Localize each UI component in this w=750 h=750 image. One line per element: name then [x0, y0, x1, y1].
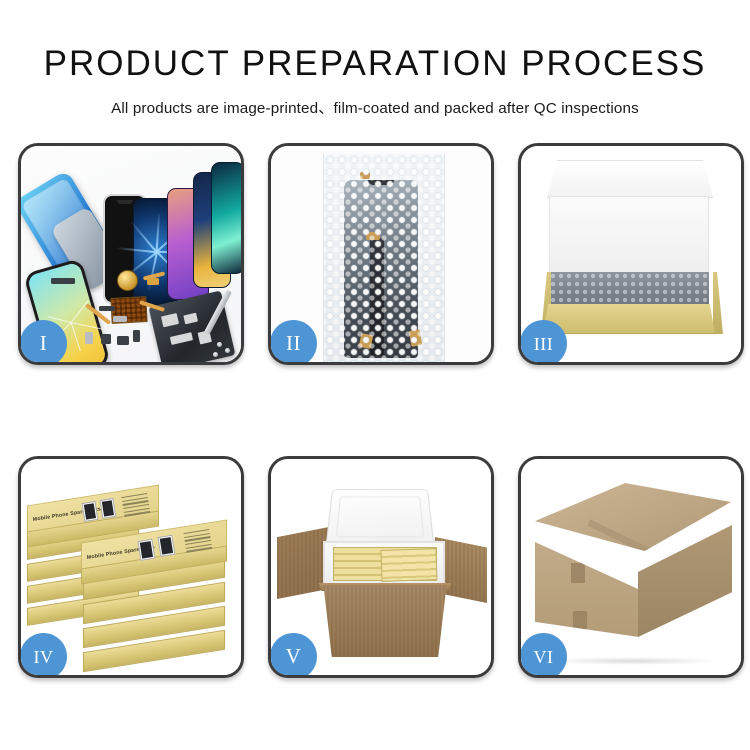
labeled-box: Mobile Phone Spare Parts [81, 531, 227, 567]
carton-shadow [545, 657, 721, 665]
box-label-phone-image [137, 539, 155, 561]
step-badge-5: V [270, 633, 317, 678]
labeled-box: Mobile Phone Spare Parts [27, 495, 159, 529]
small-part-icon [113, 316, 127, 322]
step-badge-1: I [20, 320, 67, 365]
header: PRODUCT PREPARATION PROCESS All products… [0, 0, 750, 118]
step-badge-2: II [270, 320, 317, 365]
small-part-icon [51, 278, 75, 284]
box-label-phone-image [100, 498, 117, 519]
process-step-1: I [18, 143, 244, 365]
box-contents-icon [549, 272, 709, 306]
process-step-5: V [268, 456, 494, 678]
process-step-3: III [518, 143, 744, 365]
box-label-checklist [183, 529, 212, 553]
bubble-bag-icon [323, 154, 445, 362]
step-badge-4: IV [20, 633, 67, 678]
small-part-icon [117, 336, 129, 345]
small-part-icon [133, 330, 140, 342]
page-root: PRODUCT PREPARATION PROCESS All products… [0, 0, 750, 750]
step-badge-3: III [520, 320, 567, 365]
screw-icon [213, 352, 218, 357]
screw-icon [225, 348, 230, 353]
box-label-phone-image [157, 535, 175, 557]
box-label-checklist [121, 493, 150, 517]
tape-tab-icon [573, 611, 587, 629]
box-lid-front-icon [549, 196, 709, 274]
small-part-icon [99, 306, 115, 311]
tape-tab-icon [571, 563, 585, 583]
box-label-phone-image [82, 501, 99, 522]
step-badge-6: VI [520, 633, 567, 678]
box-lid-back-icon [547, 160, 713, 198]
process-grid: I II [18, 143, 732, 678]
small-part-icon [147, 278, 159, 285]
yellow-boxes-icon [380, 548, 437, 582]
small-part-icon [101, 334, 111, 344]
bubble-texture [324, 154, 444, 362]
vibration-motor-icon [117, 270, 138, 291]
carton-front-icon [315, 585, 455, 657]
bubble-texture [549, 272, 709, 306]
process-step-6: VI [518, 456, 744, 678]
screw-icon [217, 342, 222, 347]
process-step-2: II [268, 143, 494, 365]
styrofoam-lid-icon [325, 489, 434, 547]
teal-display-icon [211, 162, 241, 274]
process-step-4: Mobile Phone Spare Parts Mobile Phone Sp… [18, 456, 244, 678]
page-title: PRODUCT PREPARATION PROCESS [0, 44, 750, 84]
small-part-icon [85, 332, 93, 344]
box-front-icon [543, 304, 715, 334]
page-subtitle: All products are image-printed、film-coat… [0, 96, 750, 118]
